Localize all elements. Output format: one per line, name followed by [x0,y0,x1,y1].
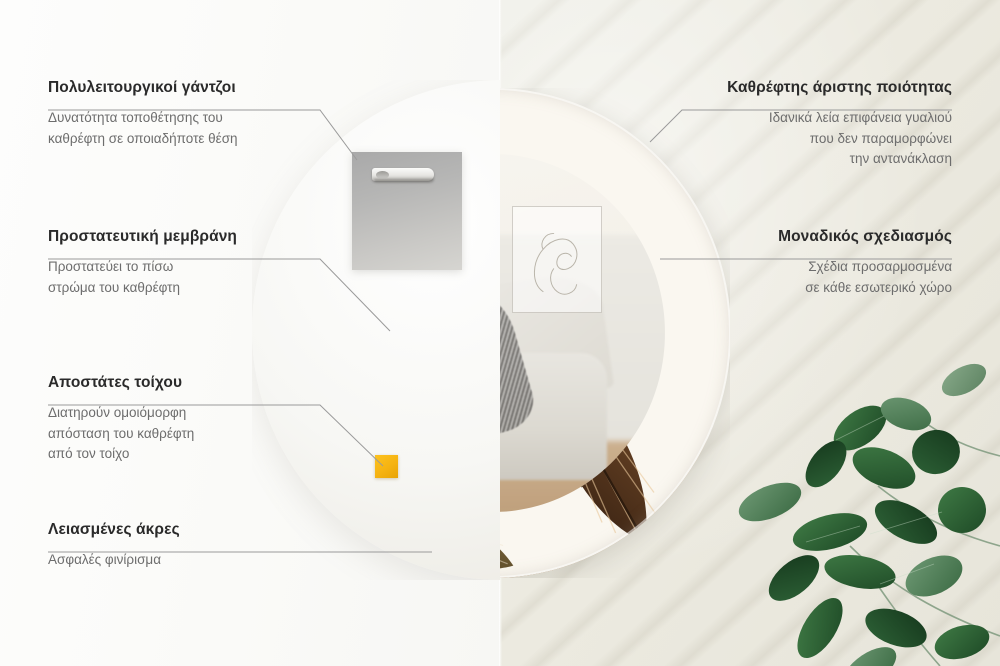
callout-edges-body: Ασφαλές φινίρισμα [48,550,308,571]
callout-design-title: Μοναδικός σχεδιασμός [672,227,952,246]
protective-membrane-panel [352,152,462,270]
callout-membrane: Προστατευτική μεμβράνη Προστατεύει το πί… [48,227,308,298]
hook-hole [376,171,389,179]
hook-shadow [374,179,434,184]
callout-spacers-body: Διατηρούν ομοιόμορφη απόσταση του καθρέφ… [48,403,308,465]
callout-hooks: Πολυλειτουργικοί γάντζοι Δυνατότητα τοπο… [48,78,308,149]
multifunctional-hook [372,168,434,184]
callout-edges: Λειασμένες άκρες Ασφαλές φινίρισμα [48,520,308,571]
infographic-stage: Πολυλειτουργικοί γάντζοι Δυνατότητα τοπο… [0,0,1000,666]
callout-edges-title: Λειασμένες άκρες [48,520,308,539]
wall-spacer-block [375,455,398,478]
callout-spacers: Αποστάτες τοίχου Διατηρούν ομοιόμορφη απ… [48,373,308,465]
callout-design: Μοναδικός σχεδιασμός Σχέδια προσαρμοσμέν… [672,227,952,298]
callout-design-body: Σχέδια προσαρμοσμένα σε κάθε εσωτερικό χ… [672,257,952,298]
green-leaves-branch [710,336,1000,666]
callout-hooks-body: Δυνατότητα τοποθέτησης του καθρέφτη σε ο… [48,108,308,149]
callout-membrane-body: Προστατεύει το πίσω στρώμα του καθρέφτη [48,257,308,298]
callout-quality-body: Ιδανικά λεία επιφάνεια γυαλιού που δεν π… [652,108,952,170]
callout-quality: Καθρέφτης άριστης ποιότητας Ιδανικά λεία… [652,78,952,170]
callout-spacers-title: Αποστάτες τοίχου [48,373,308,392]
callout-hooks-title: Πολυλειτουργικοί γάντζοι [48,78,308,97]
callout-membrane-title: Προστατευτική μεμβράνη [48,227,308,246]
callout-quality-title: Καθρέφτης άριστης ποιότητας [652,78,952,97]
